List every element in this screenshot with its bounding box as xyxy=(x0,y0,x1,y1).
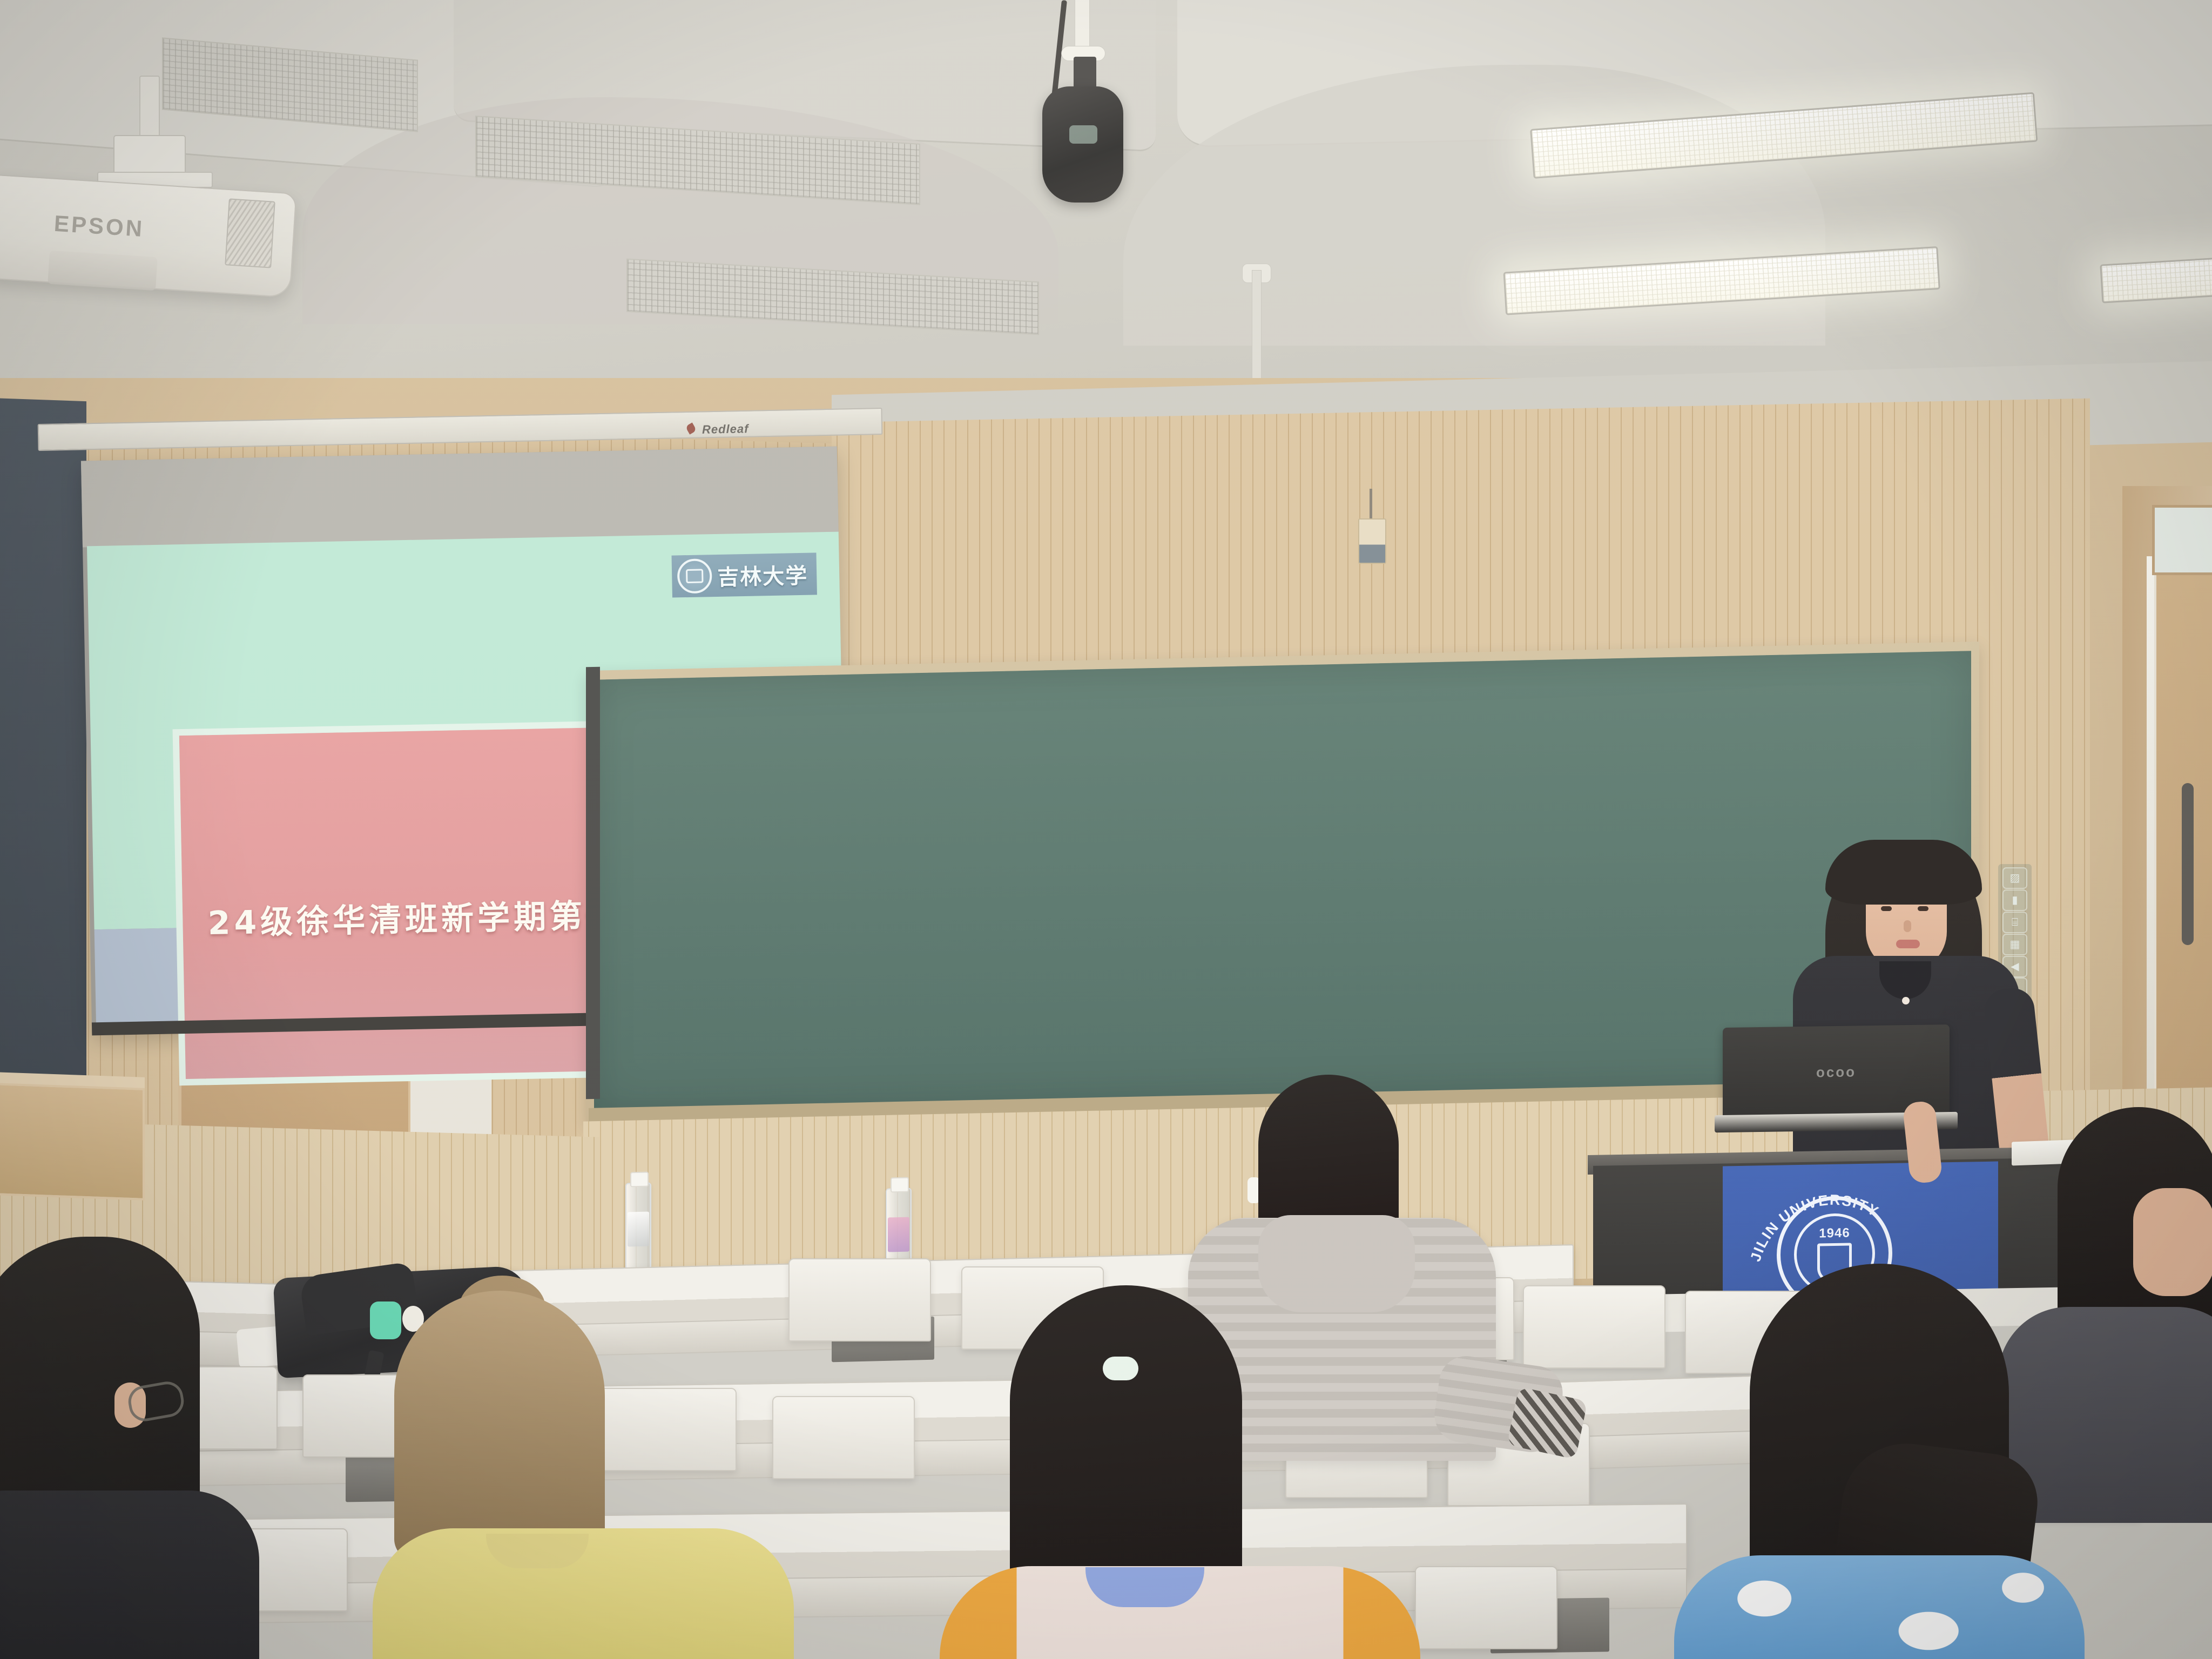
chair[interactable] xyxy=(1523,1285,1665,1368)
projector-lens xyxy=(48,251,157,291)
chair[interactable] xyxy=(772,1396,915,1479)
chalkboard-left-edge xyxy=(586,667,600,1100)
bottle-label xyxy=(628,1212,649,1247)
svg-text:JILIN UNIVERSITY: JILIN UNIVERSITY xyxy=(1747,1191,1881,1264)
wall-dark-column-left xyxy=(0,398,86,1168)
projector-bracket xyxy=(113,135,186,176)
door-right-transom-window xyxy=(2152,505,2212,575)
projector-vent-icon xyxy=(225,198,275,268)
student-far-right-face xyxy=(2133,1188,2212,1296)
screen-top-gray-band xyxy=(81,447,839,548)
presenter-mouth xyxy=(1896,940,1920,948)
eraser-icon[interactable]: ▨ xyxy=(2002,867,2027,889)
projector-mount-rod xyxy=(139,76,160,143)
backpack-charm-green xyxy=(370,1301,401,1339)
presenter-eye-right xyxy=(1918,906,1928,911)
bottle-cap-icon xyxy=(630,1172,649,1188)
door-right-light-gap xyxy=(2147,556,2154,1166)
bottle-label xyxy=(888,1217,909,1252)
ceiling-camera-lens-glint xyxy=(1069,125,1097,144)
wall-sensor-cable xyxy=(1370,489,1372,520)
presenter-pendant xyxy=(1902,997,1910,1004)
screen-brand-label: Redleaf xyxy=(702,422,749,437)
student-yellow-shirt-hair xyxy=(394,1291,605,1561)
wall-sensor-box xyxy=(1358,518,1386,564)
student-left-glasses-torso xyxy=(0,1491,259,1659)
side-cabinet xyxy=(0,1083,145,1201)
chair[interactable] xyxy=(788,1258,931,1341)
slide-university-logo: 吉林大学 xyxy=(672,552,817,597)
presenter-nose xyxy=(1904,920,1911,932)
student-gray-hoodie-hood xyxy=(1258,1215,1415,1312)
select-icon[interactable]: ▮ xyxy=(2002,889,2027,911)
keyboard-icon[interactable]: ⌸ xyxy=(2002,912,2027,933)
laptop-brand-label: ocoo xyxy=(1816,1063,1856,1081)
grid-icon[interactable]: ▦ xyxy=(2002,934,2027,955)
presenter-eye-left xyxy=(1881,906,1892,911)
classroom-photo: EPSON Redleaf 吉林大学 24级徐华清班新学期第一次班会 2025.… xyxy=(0,0,2212,1659)
hair-tie-icon xyxy=(1103,1357,1138,1380)
student-yellow-shirt-collar xyxy=(486,1534,589,1568)
presenter-hair-front xyxy=(1825,840,1982,905)
chair[interactable] xyxy=(594,1388,737,1471)
bottle-cap-icon xyxy=(891,1177,909,1193)
slide-logo-text: 吉林大学 xyxy=(717,558,808,591)
ceiling-camera-icon xyxy=(1042,86,1123,203)
student-blue-tiedye-torso xyxy=(1674,1555,2085,1659)
chair[interactable] xyxy=(1415,1566,1557,1649)
student-orange-raglan-collar xyxy=(1085,1567,1204,1607)
door-handle-right[interactable] xyxy=(2182,783,2194,945)
university-seal-icon xyxy=(677,558,712,594)
water-bottle-clear[interactable] xyxy=(625,1182,651,1271)
